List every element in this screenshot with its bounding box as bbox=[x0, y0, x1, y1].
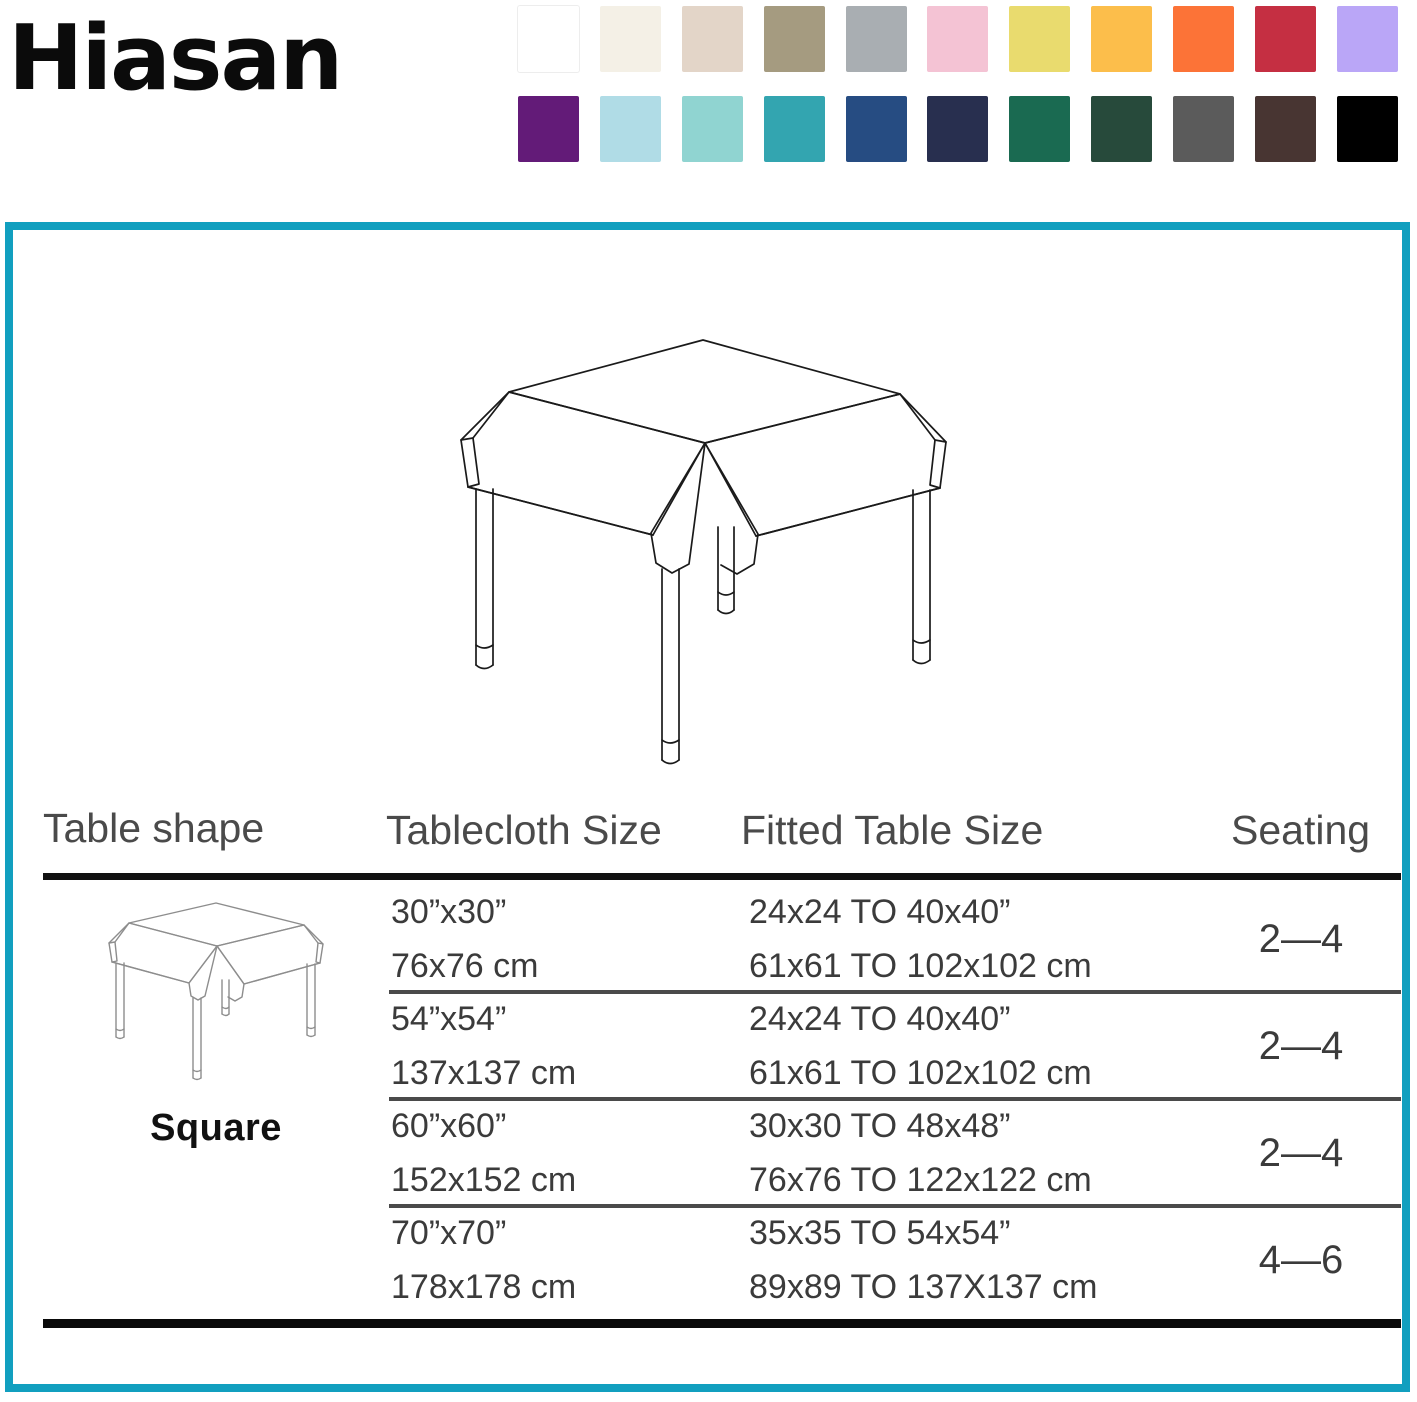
cell-tablecloth-inches: 54”x54” bbox=[391, 1002, 506, 1036]
swatch-cell[interactable] bbox=[835, 96, 917, 174]
swatch-cell[interactable] bbox=[835, 6, 917, 84]
swatch-cell[interactable] bbox=[1081, 6, 1163, 84]
cell-fitted-inches: 30x30 TO 48x48” bbox=[749, 1109, 1010, 1143]
swatch-cell[interactable] bbox=[1163, 6, 1245, 84]
swatch-cell[interactable] bbox=[1244, 6, 1326, 84]
swatch-cell[interactable] bbox=[672, 96, 754, 174]
color-swatch-light-blue[interactable] bbox=[600, 96, 661, 162]
swatch-cell[interactable] bbox=[917, 6, 999, 84]
color-swatch-dark-brown[interactable] bbox=[1255, 96, 1316, 162]
cell-tablecloth-inches: 70”x70” bbox=[391, 1216, 506, 1250]
cell-fitted-inches: 24x24 TO 40x40” bbox=[749, 1002, 1010, 1036]
cell-tablecloth-cm: 178x178 cm bbox=[391, 1270, 576, 1304]
header-band: Hiasan bbox=[0, 0, 1417, 200]
swatch-cell[interactable] bbox=[753, 96, 835, 174]
color-swatch-beige[interactable] bbox=[682, 6, 743, 72]
swatch-cell[interactable] bbox=[917, 96, 999, 174]
column-header-seating: Seating bbox=[1231, 807, 1370, 854]
column-header-fitted-table-size: Fitted Table Size bbox=[741, 807, 1043, 854]
cell-tablecloth-cm: 137x137 cm bbox=[391, 1056, 576, 1090]
swatch-cell[interactable] bbox=[1326, 6, 1408, 84]
color-swatch-white[interactable] bbox=[518, 6, 579, 72]
table-rows: 30”x30” 76x76 cm 24x24 TO 40x40” 61x61 T… bbox=[371, 887, 1401, 1315]
swatch-cell[interactable] bbox=[672, 6, 754, 84]
cell-fitted-cm: 61x61 TO 102x102 cm bbox=[749, 949, 1092, 983]
swatch-cell[interactable] bbox=[590, 96, 672, 174]
swatch-cell[interactable] bbox=[1244, 96, 1326, 174]
table-row: 30”x30” 76x76 cm 24x24 TO 40x40” 61x61 T… bbox=[371, 887, 1401, 994]
cell-fitted-inches: 35x35 TO 54x54” bbox=[749, 1216, 1010, 1250]
swatch-cell[interactable] bbox=[590, 6, 672, 84]
color-swatch-lavender[interactable] bbox=[1337, 6, 1398, 72]
swatch-cell[interactable] bbox=[508, 96, 590, 174]
color-swatch-black[interactable] bbox=[1337, 96, 1398, 162]
table-row: 60”x60” 152x152 cm 30x30 TO 48x48” 76x76… bbox=[371, 1101, 1401, 1208]
table-row: 54”x54” 137x137 cm 24x24 TO 40x40” 61x61… bbox=[371, 994, 1401, 1101]
color-swatch-green[interactable] bbox=[1009, 96, 1070, 162]
swatch-row-1 bbox=[508, 6, 1408, 84]
cell-seating: 2—4 bbox=[1211, 1131, 1391, 1176]
cell-fitted-cm: 61x61 TO 102x102 cm bbox=[749, 1056, 1092, 1090]
swatch-row-2 bbox=[508, 96, 1408, 174]
cell-tablecloth-cm: 152x152 cm bbox=[391, 1163, 576, 1197]
cell-seating: 2—4 bbox=[1211, 1024, 1391, 1069]
color-swatch-purple[interactable] bbox=[518, 96, 579, 162]
table-footer-line bbox=[43, 1319, 1401, 1328]
table-row: 70”x70” 178x178 cm 35x35 TO 54x54” 89x89… bbox=[371, 1208, 1401, 1315]
swatch-cell[interactable] bbox=[753, 6, 835, 84]
swatch-cell[interactable] bbox=[1163, 96, 1245, 174]
color-swatch-ivory[interactable] bbox=[600, 6, 661, 72]
square-table-thumbnail-icon bbox=[71, 901, 361, 1101]
cell-tablecloth-cm: 76x76 cm bbox=[391, 949, 538, 983]
column-header-table-shape: Table shape bbox=[43, 805, 264, 852]
header-divider-line bbox=[43, 873, 1401, 880]
swatch-cell[interactable] bbox=[999, 96, 1081, 174]
shape-cell-square: Square bbox=[61, 901, 371, 1150]
brand-logo: Hiasan bbox=[8, 14, 341, 104]
square-table-illustration bbox=[413, 330, 993, 800]
swatch-cell[interactable] bbox=[1326, 96, 1408, 174]
color-swatch-gold[interactable] bbox=[1091, 6, 1152, 72]
cell-fitted-inches: 24x24 TO 40x40” bbox=[749, 895, 1010, 929]
cell-fitted-cm: 89x89 TO 137X137 cm bbox=[749, 1270, 1097, 1304]
table-header-row: Table shape Tablecloth Size Fitted Table… bbox=[31, 805, 1401, 873]
color-swatch-dark-green[interactable] bbox=[1091, 96, 1152, 162]
color-swatch-teal[interactable] bbox=[764, 96, 825, 162]
color-swatch-yellow[interactable] bbox=[1009, 6, 1070, 72]
color-swatch-dark-gray[interactable] bbox=[1173, 96, 1234, 162]
swatch-cell[interactable] bbox=[1081, 96, 1163, 174]
color-swatch-aqua[interactable] bbox=[682, 96, 743, 162]
swatch-cell[interactable] bbox=[999, 6, 1081, 84]
color-swatch-orange[interactable] bbox=[1173, 6, 1234, 72]
product-size-chart-page: Hiasan bbox=[0, 0, 1417, 1402]
color-swatch-grid bbox=[508, 6, 1408, 174]
cell-tablecloth-inches: 30”x30” bbox=[391, 895, 506, 929]
cell-tablecloth-inches: 60”x60” bbox=[391, 1109, 506, 1143]
column-header-tablecloth-size: Tablecloth Size bbox=[386, 807, 662, 854]
cell-seating: 2—4 bbox=[1211, 917, 1391, 962]
shape-label: Square bbox=[61, 1107, 371, 1150]
swatch-cell[interactable] bbox=[508, 6, 590, 84]
color-swatch-taupe[interactable] bbox=[764, 6, 825, 72]
color-swatch-crimson[interactable] bbox=[1255, 6, 1316, 72]
size-chart-panel: Table shape Tablecloth Size Fitted Table… bbox=[5, 222, 1410, 1392]
cell-fitted-cm: 76x76 TO 122x122 cm bbox=[749, 1163, 1092, 1197]
color-swatch-navy-blue[interactable] bbox=[846, 96, 907, 162]
cell-seating: 4—6 bbox=[1211, 1238, 1391, 1283]
color-swatch-gray[interactable] bbox=[846, 6, 907, 72]
color-swatch-dark-navy[interactable] bbox=[927, 96, 988, 162]
size-spec-table: Table shape Tablecloth Size Fitted Table… bbox=[31, 805, 1401, 887]
color-swatch-pink[interactable] bbox=[927, 6, 988, 72]
